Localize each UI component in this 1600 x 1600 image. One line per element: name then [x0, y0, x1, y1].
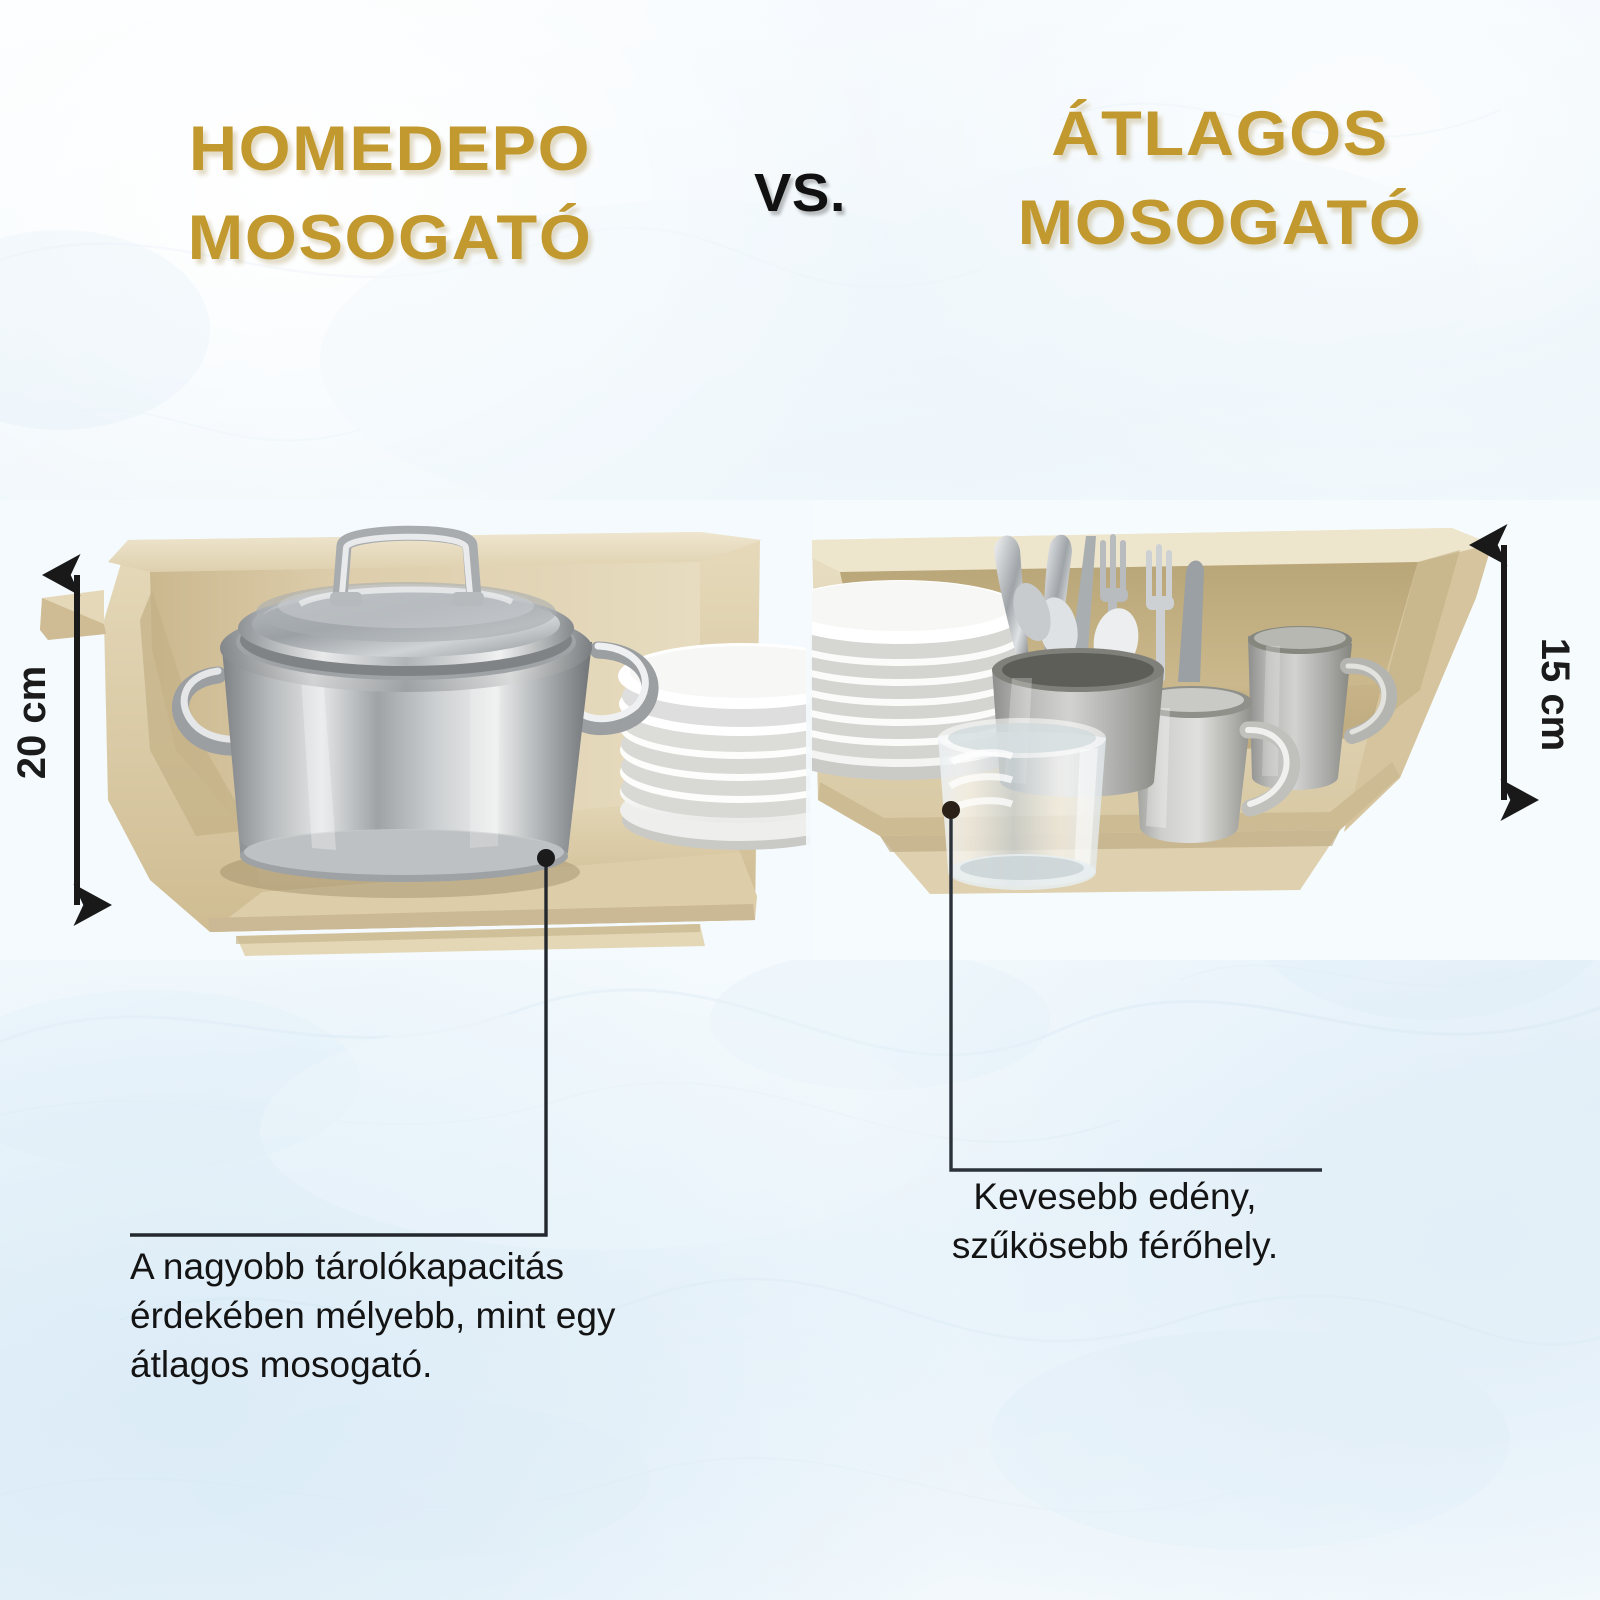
sink-comparison-photo	[0, 500, 1600, 960]
callout-text-right: Kevesebb edény, szűkösebb férőhely.	[905, 1172, 1325, 1270]
dimension-label-15cm: 15 cm	[1532, 638, 1577, 751]
callout-text-left: A nagyobb tárolókapacitás érdekében mély…	[130, 1242, 650, 1390]
drinking-glass	[938, 718, 1106, 890]
dimension-label-20cm: 20 cm	[10, 666, 55, 779]
headline-block: HOMEDEPO MOSOGATÓ VS. ÁTLAGOS MOSOGATÓ	[0, 0, 1600, 300]
versus-label: VS.	[706, 162, 893, 224]
right-sink-photo	[774, 500, 1600, 960]
heading-average: ÁTLAGOS MOSOGATÓ	[870, 90, 1570, 269]
left-sink-photo	[0, 500, 866, 960]
photo-seam	[806, 500, 812, 960]
heading-homedepo: HOMEDEPO MOSOGATÓ	[51, 105, 729, 284]
